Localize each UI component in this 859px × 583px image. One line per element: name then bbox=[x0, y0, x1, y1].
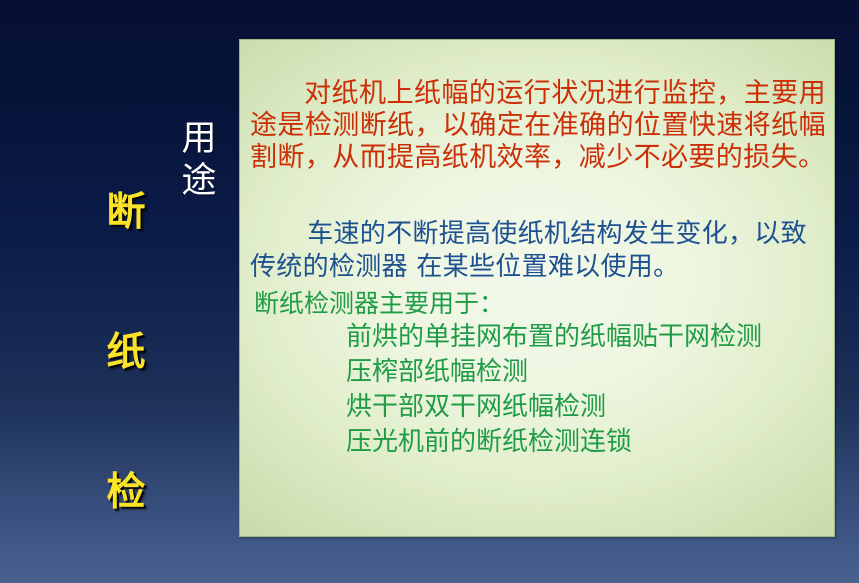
blue-paragraph: 车速的不断提高使纸机结构发生变化，以致传统的检测器 在某些位置难以使用。 bbox=[240, 218, 834, 284]
vertical-title-char-1: 断 bbox=[98, 178, 154, 248]
vertical-subtitle-char-1: 用 bbox=[176, 118, 222, 160]
green-heading: 断纸检测器主要用于： bbox=[240, 288, 834, 319]
slide-vertical-title: 断 纸 检 测 器 bbox=[98, 108, 154, 583]
vertical-subtitle-char-2: 途 bbox=[176, 160, 222, 202]
list-item: 压光机前的断纸检测连锁 bbox=[346, 425, 826, 460]
blue-paragraph-text: 车速的不断提高使纸机结构发生变化，以致传统的检测器 在某些位置难以使用。 bbox=[250, 219, 807, 282]
vertical-title-char-3: 检 bbox=[98, 458, 154, 528]
green-item-list: 前烘的单挂网布置的纸幅贴干网检测 压榨部纸幅检测 烘干部双干网纸幅检测 压光机前… bbox=[240, 320, 834, 460]
list-item: 烘干部双干网纸幅检测 bbox=[346, 390, 826, 425]
vertical-title-char-2: 纸 bbox=[98, 318, 154, 388]
list-item: 前烘的单挂网布置的纸幅贴干网检测 bbox=[346, 320, 826, 355]
green-heading-text: 断纸检测器主要用于： bbox=[254, 289, 504, 318]
red-paragraph-text: 对纸机上纸幅的运行状况进行监控，主要用途是检测断纸，以确定在准确的位置快速将纸幅… bbox=[250, 78, 826, 173]
slide-vertical-subtitle: 用 途 bbox=[176, 118, 222, 202]
content-panel: 对纸机上纸幅的运行状况进行监控，主要用途是检测断纸，以确定在准确的位置快速将纸幅… bbox=[239, 39, 835, 537]
presentation-slide: 断 纸 检 测 器 用 途 对纸机上纸幅的运行状况进行监控，主要用途是检测断纸，… bbox=[0, 0, 859, 583]
list-item: 压榨部纸幅检测 bbox=[346, 355, 826, 390]
content-panel-inner: 对纸机上纸幅的运行状况进行监控，主要用途是检测断纸，以确定在准确的位置快速将纸幅… bbox=[240, 40, 834, 536]
red-paragraph: 对纸机上纸幅的运行状况进行监控，主要用途是检测断纸，以确定在准确的位置快速将纸幅… bbox=[240, 78, 834, 174]
